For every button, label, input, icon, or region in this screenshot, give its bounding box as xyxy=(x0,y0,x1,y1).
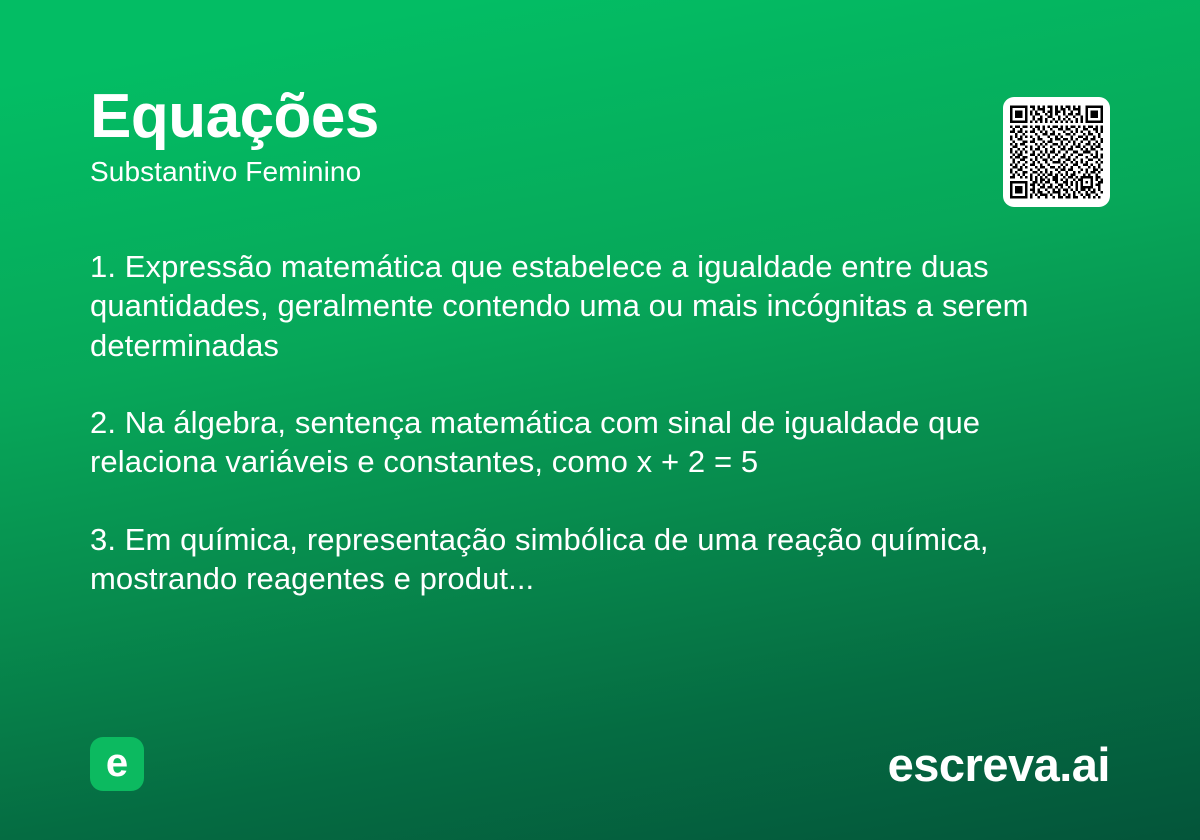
definition-item: 2. Na álgebra, sentença matemática com s… xyxy=(90,403,1100,482)
brand-logo-letter: e xyxy=(106,743,128,783)
card-header: Equações Substantivo Feminino xyxy=(90,84,1110,189)
definition-item: 1. Expressão matemática que estabelece a… xyxy=(90,247,1100,365)
qr-code-icon xyxy=(1010,105,1103,199)
word-class-label: Substantivo Feminino xyxy=(90,155,1110,189)
definition-item: 3. Em química, representação simbólica d… xyxy=(90,520,1100,599)
definition-list: 1. Expressão matemática que estabelece a… xyxy=(90,247,1100,599)
brand-wordmark: escreva.ai xyxy=(888,741,1110,788)
card-footer: e escreva.ai xyxy=(90,736,1110,792)
qr-code[interactable] xyxy=(1003,97,1110,207)
brand-logo-icon: e xyxy=(90,737,144,791)
dictionary-card: Equações Substantivo Feminino xyxy=(0,0,1200,840)
page-title: Equações xyxy=(90,84,1110,149)
